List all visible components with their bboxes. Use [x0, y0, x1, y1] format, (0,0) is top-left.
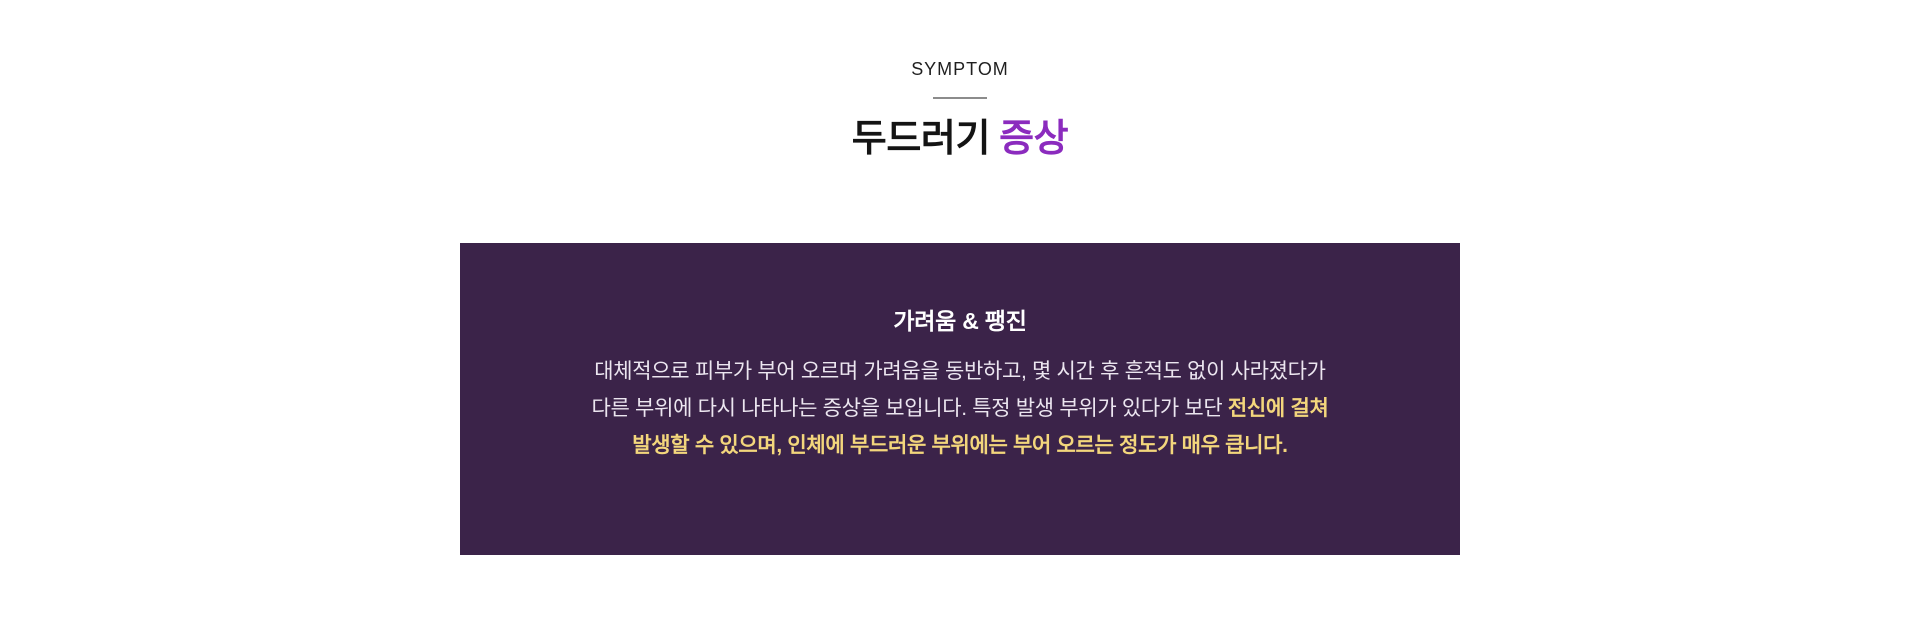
page-title-accent: 증상 [999, 118, 1068, 160]
panel-body-line-2-plain: 다른 부위에 다시 나타나는 증상을 보입니다. 특정 발생 부위가 있다가 보… [592, 397, 1228, 420]
symptom-section: SYMPTOM 두드러기증상 가려움 & 팽진 대체적으로 피부가 부어 오르며… [0, 0, 1920, 635]
panel-body-line-2-highlight: 전신에 걸쳐 [1228, 397, 1329, 420]
section-header: SYMPTOM 두드러기증상 [0, 0, 1920, 187]
panel-body-text: 대체적으로 피부가 부어 오르며 가려움을 동반하고, 몇 시간 후 흔적도 없… [460, 336, 1460, 464]
panel-body-line-1: 대체적으로 피부가 부어 오르며 가려움을 동반하고, 몇 시간 후 흔적도 없… [594, 360, 1325, 383]
panel-body-line-3-highlight: 발생할 수 있으며, 인체에 부드러운 부위에는 부어 오르는 정도가 매우 큽… [632, 434, 1287, 457]
section-eyebrow-label: SYMPTOM [0, 58, 1920, 80]
page-title-plain: 두드러기 [852, 118, 990, 160]
panel-heading: 가려움 & 팽진 [460, 243, 1460, 336]
title-divider [933, 97, 987, 99]
title-divider-wrap [0, 97, 1920, 99]
page-title: 두드러기증상 [0, 116, 1920, 162]
symptom-callout-panel: 가려움 & 팽진 대체적으로 피부가 부어 오르며 가려움을 동반하고, 몇 시… [460, 243, 1460, 555]
